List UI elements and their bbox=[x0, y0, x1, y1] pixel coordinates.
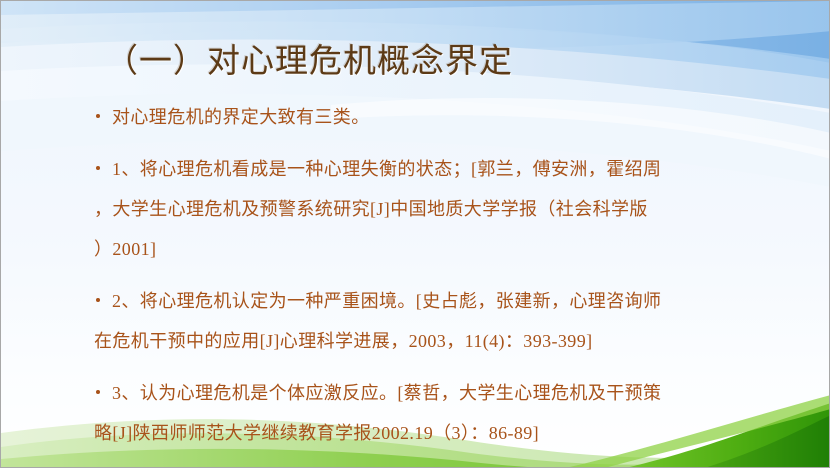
paragraph-continuation: 略[J]陕西师师范大学继续教育学报2002.19（3）：86-89] bbox=[94, 413, 812, 453]
paragraph-line: ）2001] bbox=[94, 229, 812, 269]
slide-body: 对心理危机的界定大致有三类。 1、将心理危机看成是一种心理失衡的状态；[郭兰，傅… bbox=[94, 97, 812, 453]
bullet-paragraph: 1、将心理危机看成是一种心理失衡的状态；[郭兰，傅安洲，霍绍周 bbox=[94, 149, 812, 189]
bullet-paragraph: 3、认为心理危机是个体应激反应。[蔡哲，大学生心理危机及干预策 bbox=[94, 373, 812, 413]
paragraph-line: 2、将心理危机认定为一种严重困境。[史占彪，张建新，心理咨询师 bbox=[112, 281, 812, 321]
paragraph-line: ，大学生心理危机及预警系统研究[J]中国地质大学学报（社会科学版 bbox=[94, 189, 812, 229]
bullet-dot-icon bbox=[96, 166, 100, 170]
paragraph-line: 对心理危机的界定大致有三类。 bbox=[112, 97, 812, 137]
bullet-dot-icon bbox=[96, 298, 100, 302]
paragraph-line: 略[J]陕西师师范大学继续教育学报2002.19（3）：86-89] bbox=[94, 413, 812, 453]
paragraph-continuation: 在危机干预中的应用[J]心理科学进展，2003，11(4)：393-399] bbox=[94, 321, 812, 361]
paragraph-line: 3、认为心理危机是个体应激反应。[蔡哲，大学生心理危机及干预策 bbox=[112, 373, 812, 413]
slide-title: （一）对心理危机概念界定 bbox=[105, 41, 805, 83]
paragraph-continuation: ）2001] bbox=[94, 229, 812, 269]
paragraph-line: 在危机干预中的应用[J]心理科学进展，2003，11(4)：393-399] bbox=[94, 321, 812, 361]
bullet-paragraph: 2、将心理危机认定为一种严重困境。[史占彪，张建新，心理咨询师 bbox=[94, 281, 812, 321]
bullet-dot-icon bbox=[96, 390, 100, 394]
paragraph-continuation: ，大学生心理危机及预警系统研究[J]中国地质大学学报（社会科学版 bbox=[94, 189, 812, 229]
paragraph-line: 1、将心理危机看成是一种心理失衡的状态；[郭兰，傅安洲，霍绍周 bbox=[112, 149, 812, 189]
presentation-slide: （一）对心理危机概念界定 对心理危机的界定大致有三类。 1、将心理危机看成是一种… bbox=[0, 0, 830, 468]
bullet-paragraph: 对心理危机的界定大致有三类。 bbox=[94, 97, 812, 137]
bullet-dot-icon bbox=[96, 114, 100, 118]
